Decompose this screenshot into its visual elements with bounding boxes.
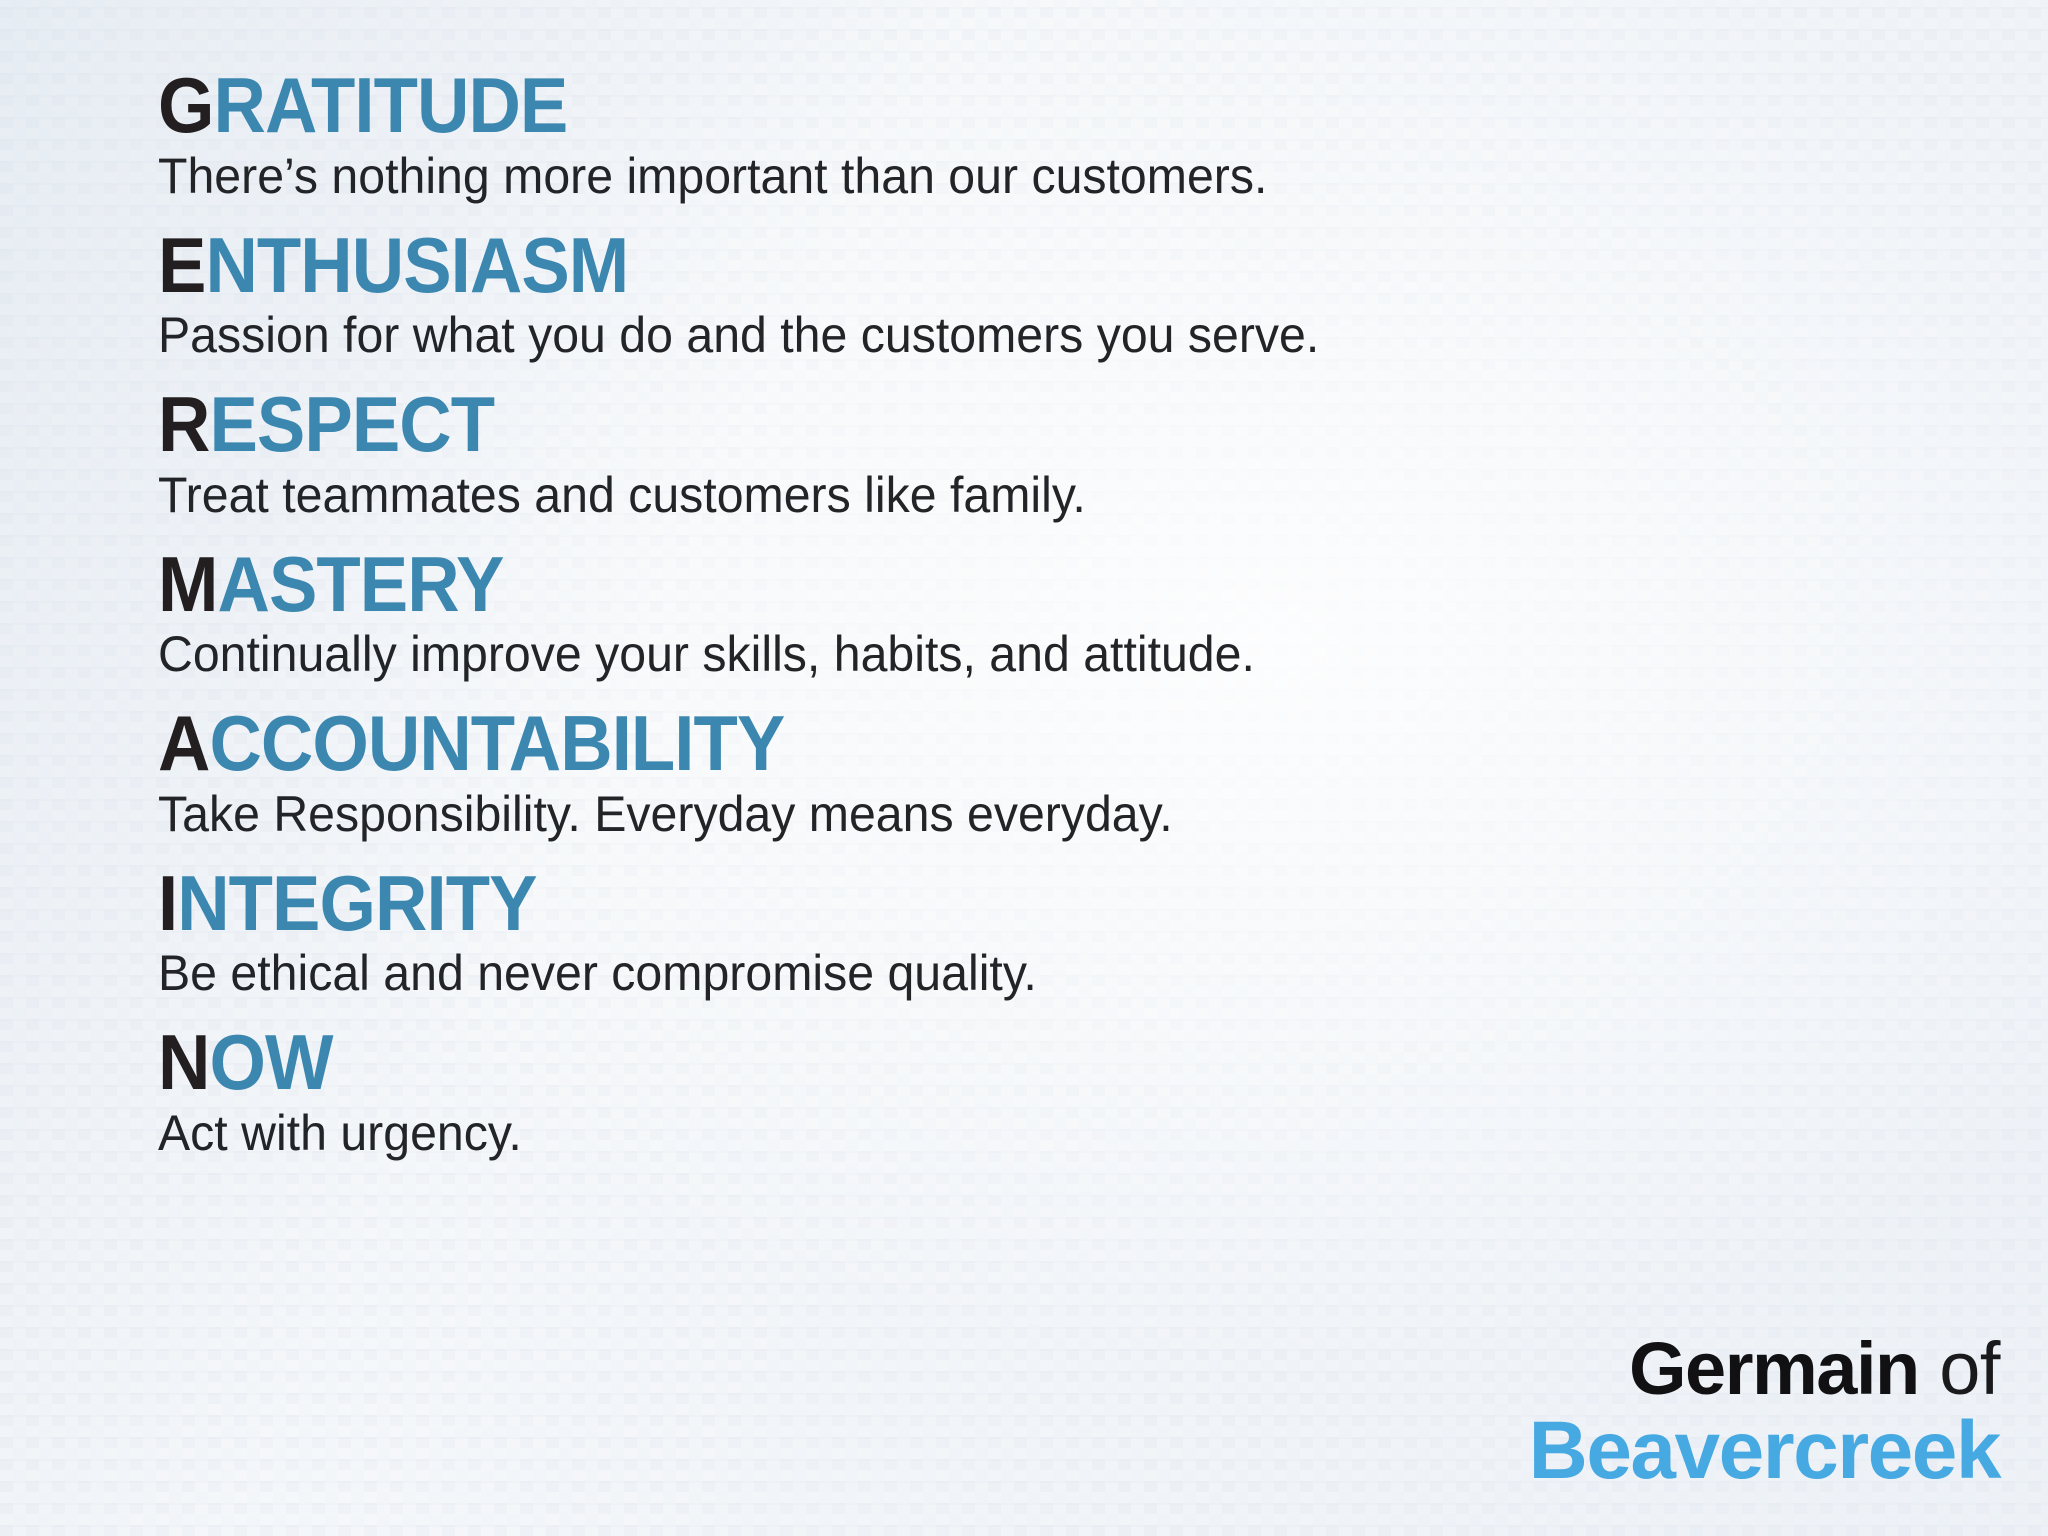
value-block-accountability: ACCOUNTABILITY Take Responsibility. Ever… — [158, 704, 2048, 842]
value-description-gratitude: There’s nothing more important than our … — [158, 148, 1982, 204]
value-initial-letter: I — [158, 859, 177, 947]
values-list: GRATITUDE There’s nothing more important… — [0, 0, 2048, 1536]
value-initial-letter: A — [158, 699, 209, 787]
value-remainder-letters: RATITUDE — [213, 61, 567, 149]
values-poster: GRATITUDE There’s nothing more important… — [0, 0, 2048, 1536]
dealership-logo: Germain of Beavercreek — [1529, 1333, 2000, 1492]
value-heading-integrity: INTEGRITY — [158, 864, 1916, 944]
logo-location-name: Beavercreek — [1529, 1410, 2000, 1492]
value-block-integrity: INTEGRITY Be ethical and never compromis… — [158, 864, 2048, 1002]
value-description-mastery: Continually improve your skills, habits,… — [158, 626, 1982, 682]
value-description-integrity: Be ethical and never compromise quality. — [158, 945, 1982, 1001]
value-initial-letter: N — [158, 1018, 209, 1106]
logo-connector-word: of — [1939, 1327, 2000, 1410]
value-block-gratitude: GRATITUDE There’s nothing more important… — [158, 66, 2048, 204]
value-description-accountability: Take Responsibility. Everyday means ever… — [158, 786, 1982, 842]
value-remainder-letters: ESPECT — [209, 380, 494, 468]
value-remainder-letters: NTEGRITY — [177, 859, 536, 947]
value-heading-accountability: ACCOUNTABILITY — [158, 704, 1916, 784]
value-remainder-letters: OW — [209, 1018, 332, 1106]
logo-brand-name: Germain — [1629, 1327, 1919, 1410]
value-initial-letter: E — [158, 221, 205, 309]
value-heading-gratitude: GRATITUDE — [158, 66, 1916, 146]
value-heading-enthusiasm: ENTHUSIASM — [158, 226, 1916, 306]
value-description-now: Act with urgency. — [158, 1105, 1982, 1161]
value-heading-now: NOW — [158, 1023, 1916, 1103]
value-block-mastery: MASTERY Continually improve your skills,… — [158, 545, 2048, 683]
value-initial-letter: M — [158, 540, 218, 628]
value-block-respect: RESPECT Treat teammates and customers li… — [158, 385, 2048, 523]
value-remainder-letters: NTHUSIASM — [205, 221, 628, 309]
value-initial-letter: G — [158, 61, 213, 149]
value-heading-mastery: MASTERY — [158, 545, 1916, 625]
value-initial-letter: R — [158, 380, 209, 468]
value-remainder-letters: CCOUNTABILITY — [209, 699, 784, 787]
value-description-enthusiasm: Passion for what you do and the customer… — [158, 307, 1982, 363]
value-heading-respect: RESPECT — [158, 385, 1916, 465]
value-block-enthusiasm: ENTHUSIASM Passion for what you do and t… — [158, 226, 2048, 364]
value-remainder-letters: ASTERY — [218, 540, 504, 628]
logo-line-one: Germain of — [1529, 1333, 2000, 1406]
value-block-now: NOW Act with urgency. — [158, 1023, 2048, 1161]
value-description-respect: Treat teammates and customers like famil… — [158, 467, 1982, 523]
